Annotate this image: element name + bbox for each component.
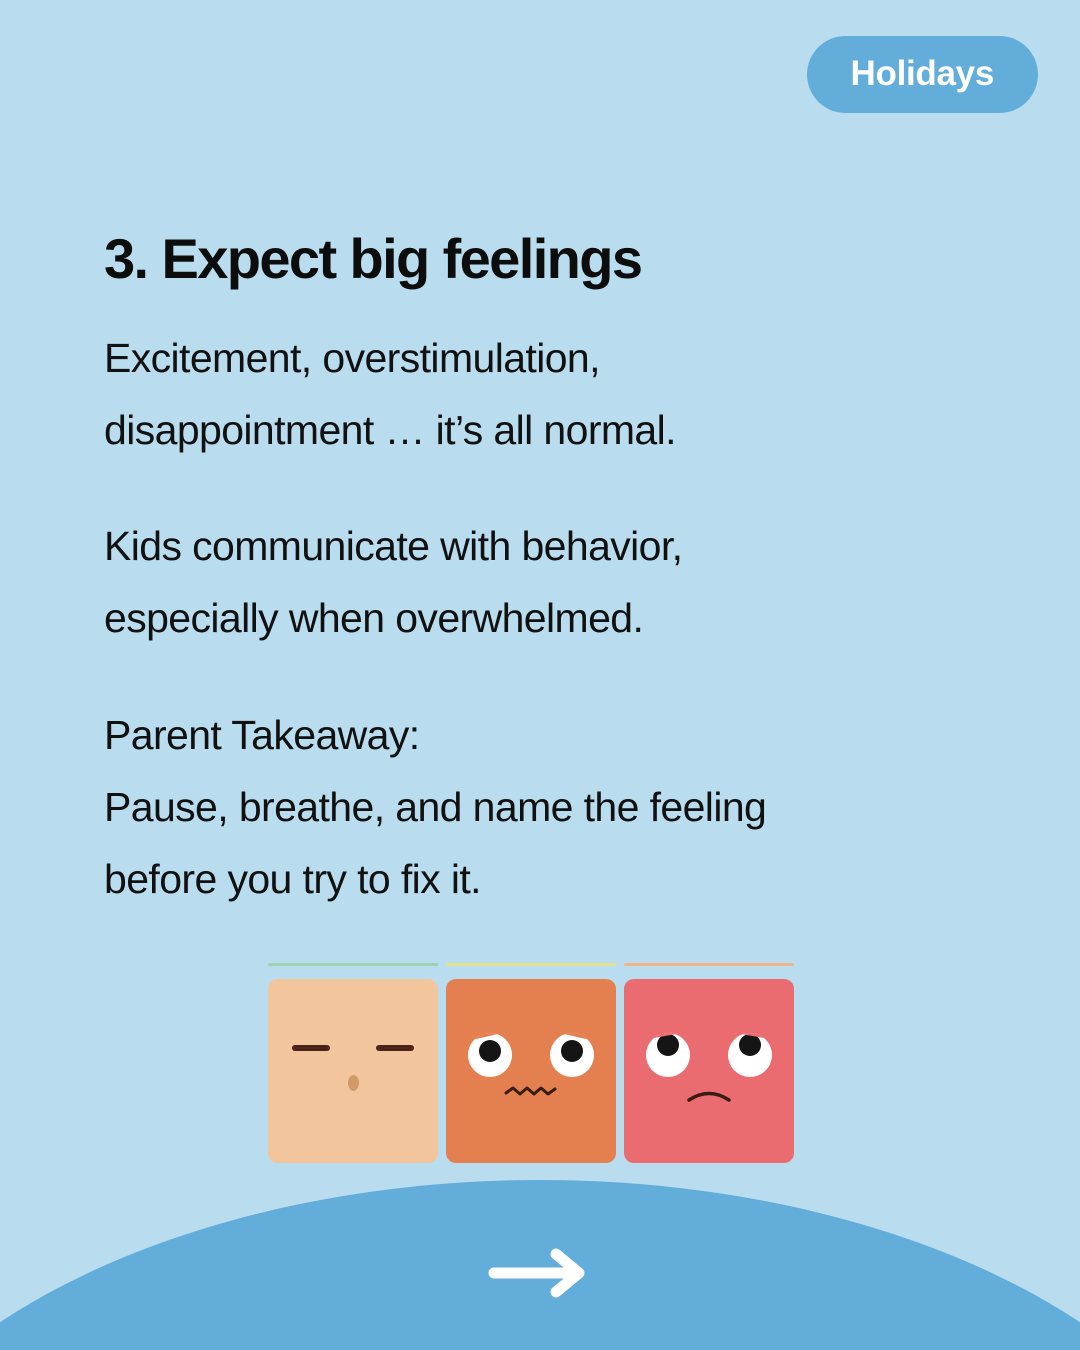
pupil: [657, 1034, 679, 1056]
paragraph-2: Kids communicate with behavior, especial…: [104, 510, 964, 654]
slide-canvas: Holidays 3. Expect big feelings Exciteme…: [0, 0, 1080, 1350]
paragraph-1: Excitement, overstimulation, disappointm…: [104, 322, 964, 466]
pupil: [561, 1040, 583, 1062]
lookup-eye-left-icon: [646, 1033, 690, 1077]
pupil: [739, 1034, 761, 1056]
paragraph-line: Parent Takeaway:: [104, 699, 964, 771]
pupil: [479, 1040, 501, 1062]
lookup-eye-right-icon: [728, 1033, 772, 1077]
category-badge[interactable]: Holidays: [807, 36, 1038, 113]
squiggle-mouth-icon: [503, 1085, 559, 1099]
page-title: 3. Expect big feelings: [104, 228, 984, 291]
paragraph-line: Excitement, overstimulation,: [104, 322, 964, 394]
upset-face-card: [624, 979, 794, 1163]
annoyed-eye-right-icon: [550, 1033, 594, 1077]
annoyed-eye-left-icon: [468, 1033, 512, 1077]
paragraph-line: before you try to fix it.: [104, 843, 964, 915]
closed-eye-left-icon: [292, 1045, 330, 1051]
closed-eye-right-icon: [376, 1045, 414, 1051]
face-slot-2: [446, 963, 616, 1163]
face-slot-1: [268, 963, 438, 1163]
paragraph-line: disappointment … it’s all normal.: [104, 394, 964, 466]
calm-blank-face-card: [268, 979, 438, 1163]
paragraph-3: Parent Takeaway: Pause, breathe, and nam…: [104, 699, 964, 915]
body-copy: Excitement, overstimulation, disappointm…: [104, 322, 964, 915]
emotion-face-cards: [268, 963, 794, 1163]
arrow-right-icon[interactable]: [486, 1244, 594, 1302]
dot-mouth-icon: [348, 1075, 359, 1091]
face-slot-3: [624, 963, 794, 1163]
paragraph-line: Pause, breathe, and name the feeling: [104, 771, 964, 843]
paragraph-line: especially when overwhelmed.: [104, 582, 964, 654]
accent-line-3: [624, 963, 794, 966]
accent-line-1: [268, 963, 438, 966]
annoyed-face-card: [446, 979, 616, 1163]
paragraph-line: Kids communicate with behavior,: [104, 510, 964, 582]
frown-mouth-icon: [684, 1087, 734, 1103]
accent-line-2: [446, 963, 616, 966]
